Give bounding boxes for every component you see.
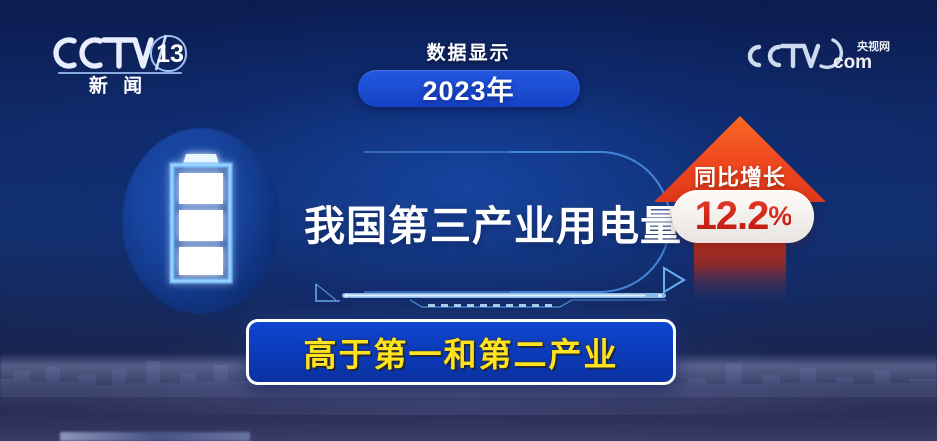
hud-decoration-line <box>310 281 678 315</box>
growth-unit: % <box>768 201 791 232</box>
footer-banner: 高于第一和第二产业 <box>246 319 676 385</box>
lower-third-sliver <box>60 432 250 441</box>
svg-text:新 闻: 新 闻 <box>89 74 147 94</box>
footer-banner-text: 高于第一和第二产业 <box>304 328 619 376</box>
year-pill: 2023年 <box>358 70 580 107</box>
metric-label-container: 我国第三产业用电量 <box>300 148 672 296</box>
broadcast-graphic: 13 新 闻 com 央视网 数据显示 2023年 <box>0 0 937 441</box>
battery-emblem <box>122 128 280 314</box>
battery-icon <box>122 128 280 314</box>
growth-label: 同比增长 <box>640 160 840 192</box>
header-kicker: 数据显示 <box>0 38 937 65</box>
growth-value: 12.2 <box>695 194 769 239</box>
metric-label: 我国第三产业用电量 <box>304 192 682 252</box>
growth-value-pill: 12.2% <box>672 190 814 243</box>
year-label: 2023年 <box>422 69 514 108</box>
